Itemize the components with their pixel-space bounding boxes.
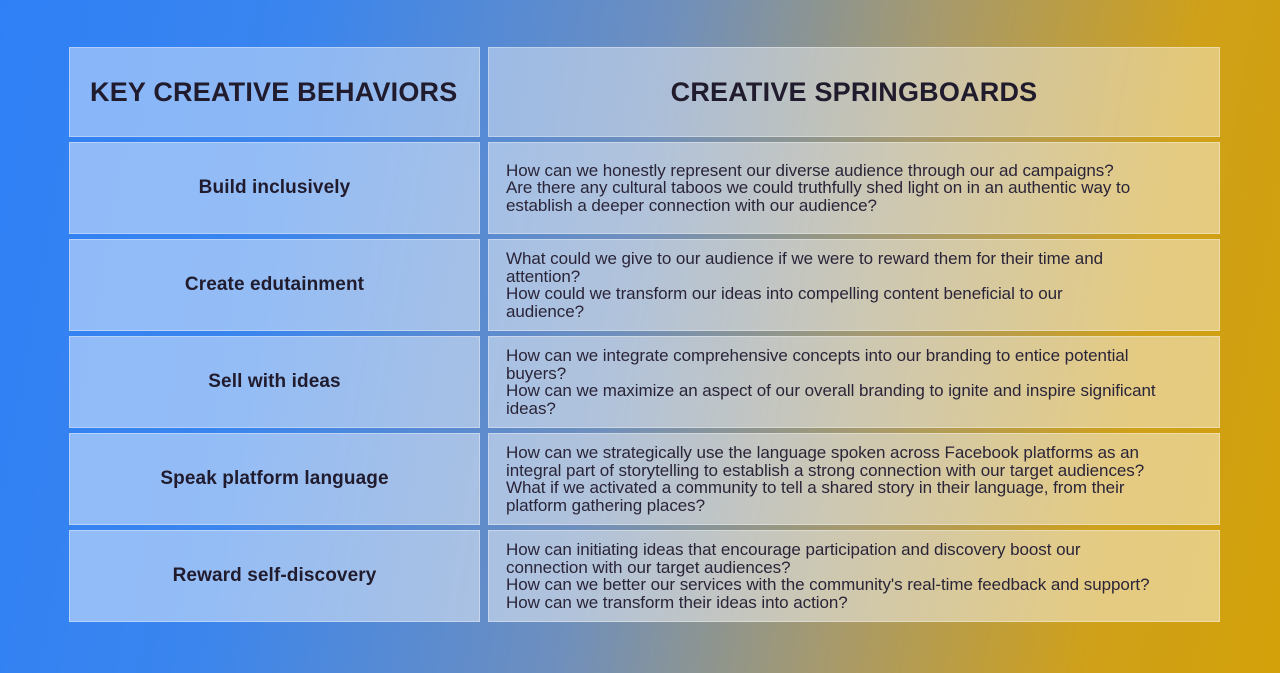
springboard-line: How could we transform our ideas into co… (506, 285, 1201, 303)
springboard-line: How can we maximize an aspect of our ove… (506, 382, 1201, 400)
behavior-label: Create edutainment (185, 273, 364, 297)
table-row: Sell with ideas How can we integrate com… (69, 336, 1220, 428)
springboard-line: ideas? (506, 400, 1201, 418)
behavior-label: Reward self-discovery (173, 564, 377, 588)
springboard-line: Are there any cultural taboos we could t… (506, 179, 1201, 197)
springboard-line: integral part of storytelling to establi… (506, 462, 1201, 480)
springboard-cell-speak-platform-language: How can we strategically use the languag… (488, 433, 1220, 525)
springboard-line: establish a deeper connection with our a… (506, 197, 1201, 215)
table-row: Speak platform language How can we strat… (69, 433, 1220, 525)
springboard-cell-create-edutainment: What could we give to our audience if we… (488, 239, 1220, 331)
springboard-line: buyers? (506, 365, 1201, 383)
springboard-cell-build-inclusively: How can we honestly represent our divers… (488, 142, 1220, 234)
creative-matrix-table: KEY CREATIVE BEHAVIORS CREATIVE SPRINGBO… (69, 47, 1220, 622)
springboard-line: What could we give to our audience if we… (506, 250, 1201, 268)
springboard-line: attention? (506, 268, 1201, 286)
springboard-cell-reward-self-discovery: How can initiating ideas that encourage … (488, 530, 1220, 622)
behavior-cell-create-edutainment: Create edutainment (69, 239, 480, 331)
springboard-line: How can we integrate comprehensive conce… (506, 347, 1201, 365)
springboard-line: connection with our target audiences? (506, 559, 1201, 577)
springboard-line: What if we activated a community to tell… (506, 479, 1201, 497)
behavior-cell-build-inclusively: Build inclusively (69, 142, 480, 234)
behavior-cell-reward-self-discovery: Reward self-discovery (69, 530, 480, 622)
springboard-line: How can we strategically use the languag… (506, 444, 1201, 462)
springboard-line: How can we better our services with the … (506, 576, 1201, 594)
springboard-cell-sell-with-ideas: How can we integrate comprehensive conce… (488, 336, 1220, 428)
header-label-left: KEY CREATIVE BEHAVIORS (90, 77, 457, 108)
header-cell-key-creative-behaviors: KEY CREATIVE BEHAVIORS (69, 47, 480, 137)
table-row: Reward self-discovery How can initiating… (69, 530, 1220, 622)
behavior-label: Sell with ideas (208, 370, 340, 394)
table-row: Build inclusively How can we honestly re… (69, 142, 1220, 234)
springboard-line: How can we honestly represent our divers… (506, 162, 1201, 180)
header-cell-creative-springboards: CREATIVE SPRINGBOARDS (488, 47, 1220, 137)
behavior-cell-speak-platform-language: Speak platform language (69, 433, 480, 525)
springboard-line: audience? (506, 303, 1201, 321)
springboard-line: How can initiating ideas that encourage … (506, 541, 1201, 559)
table-row: Create edutainment What could we give to… (69, 239, 1220, 331)
behavior-label: Speak platform language (160, 467, 388, 491)
behavior-label: Build inclusively (199, 176, 351, 200)
table-header-row: KEY CREATIVE BEHAVIORS CREATIVE SPRINGBO… (69, 47, 1220, 137)
behavior-cell-sell-with-ideas: Sell with ideas (69, 336, 480, 428)
springboard-line: How can we transform their ideas into ac… (506, 594, 1201, 612)
springboard-line: platform gathering places? (506, 497, 1201, 515)
header-label-right: CREATIVE SPRINGBOARDS (671, 77, 1038, 108)
